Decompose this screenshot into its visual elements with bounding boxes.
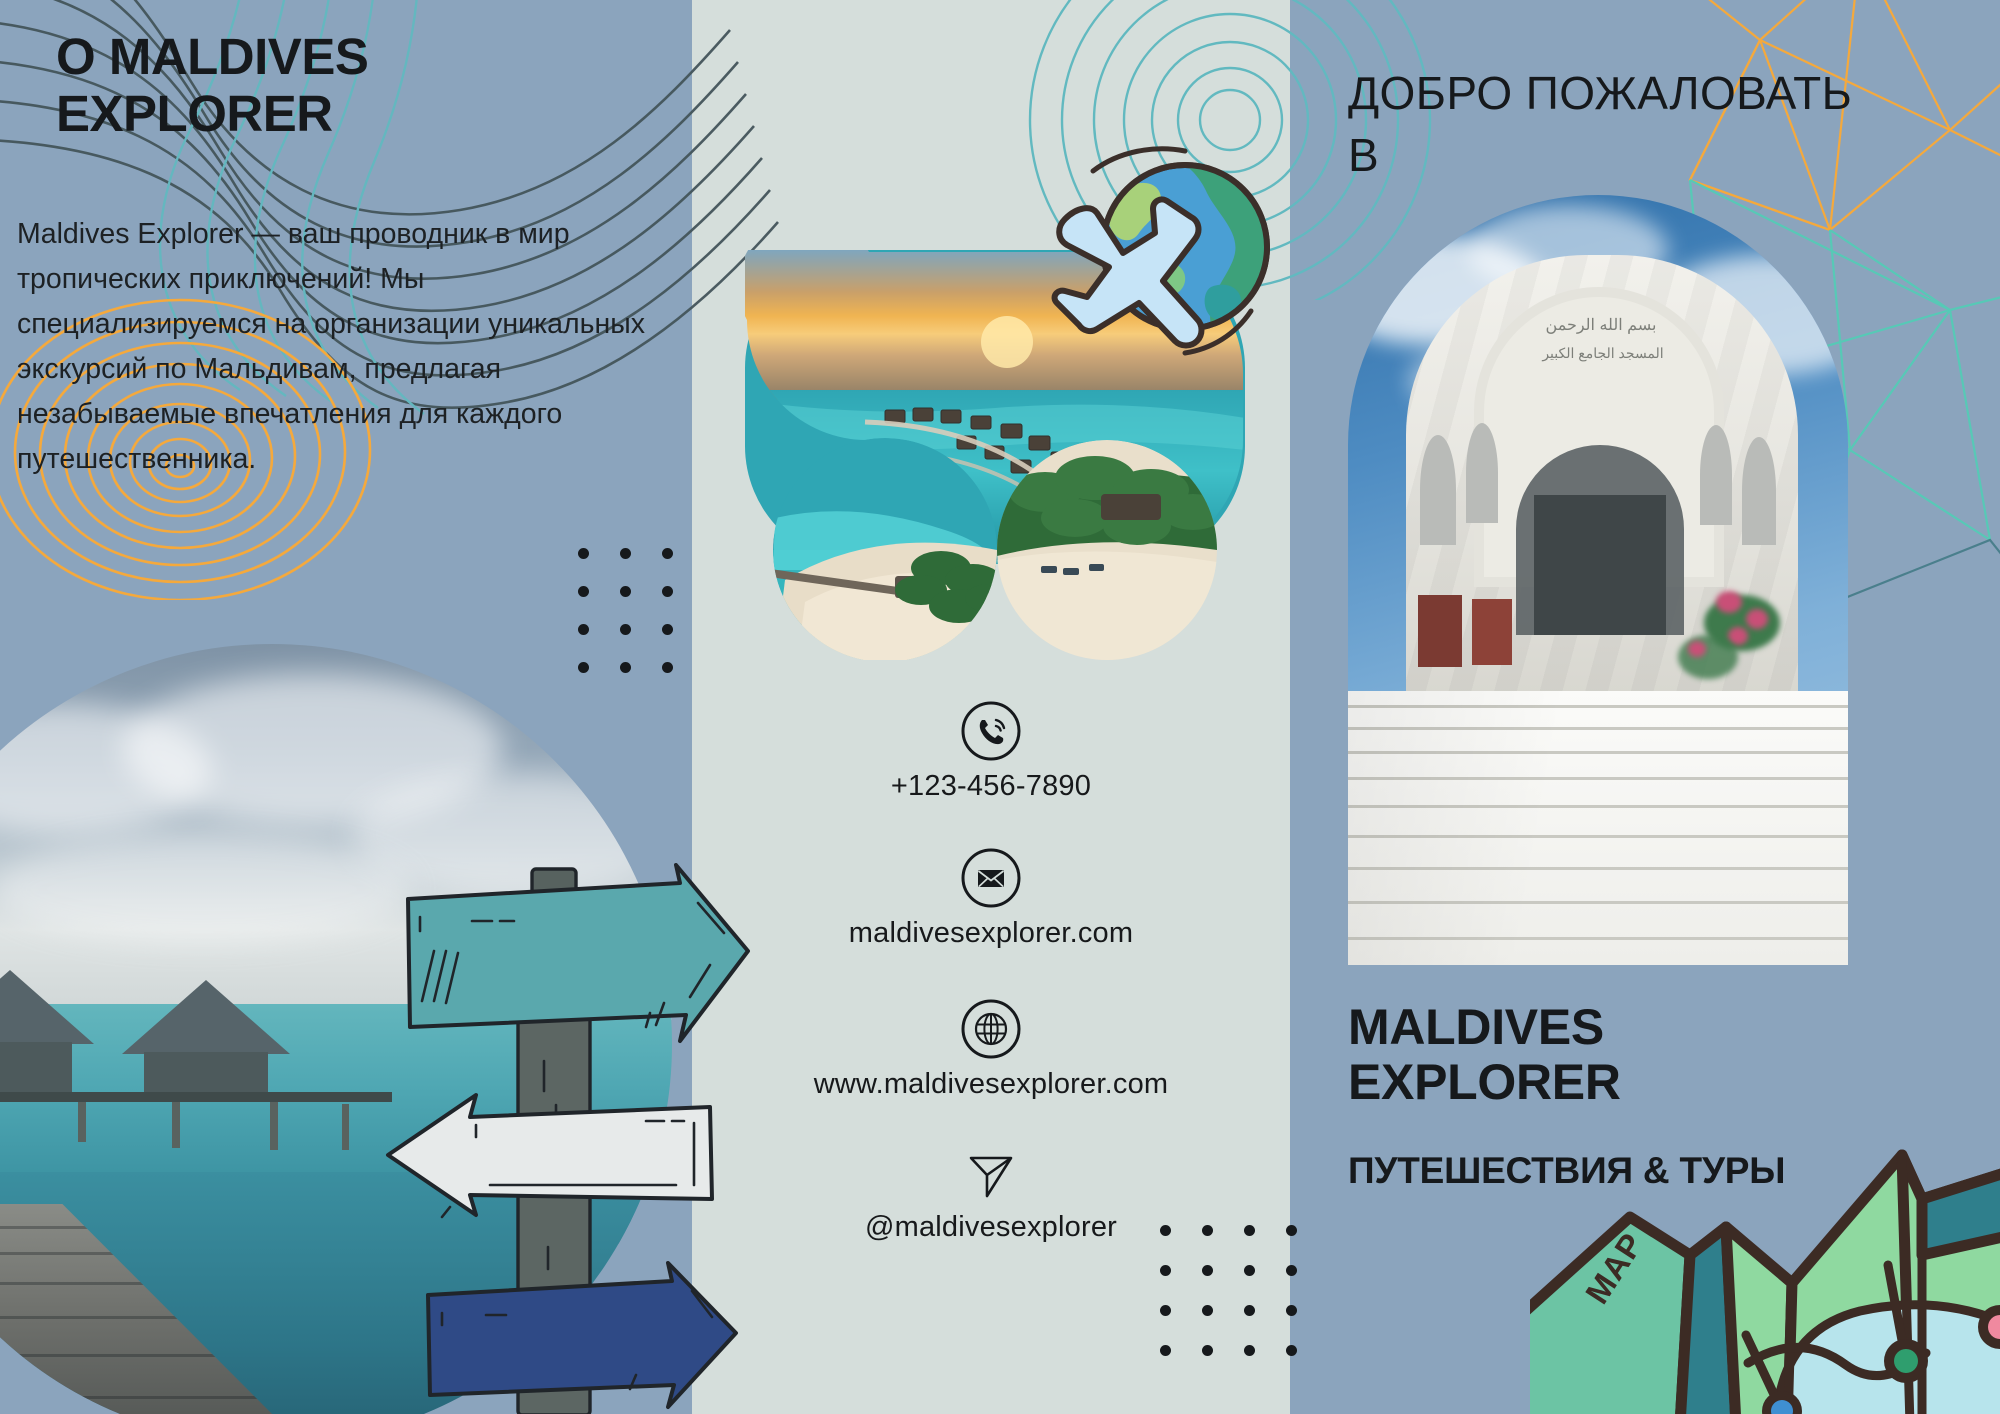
welcome-heading: ДОБРО ПОЖАЛОВАТЬ В — [1348, 62, 1868, 186]
mosque-photo: بسم الله الرحمن المسجد الجامع الكبير — [1348, 195, 1848, 965]
phone-value: +123-456-7890 — [692, 772, 1290, 801]
mail-icon — [960, 847, 1022, 909]
about-heading: О MALDIVES EXPLORER — [56, 28, 616, 142]
about-paragraph: Maldives Explorer — ваш проводник в мир … — [17, 212, 657, 482]
globe-icon — [960, 998, 1022, 1060]
contact-phone[interactable]: +123-456-7890 — [692, 700, 1290, 801]
globe-airplane-icon — [1035, 135, 1285, 365]
brand-name: MALDIVES EXPLORER — [1348, 1000, 1868, 1110]
white-arrow-left — [388, 1095, 712, 1215]
send-icon — [960, 1147, 1022, 1203]
dot-grid-decoration-bottom — [1160, 1225, 1290, 1385]
brochure-page: О MALDIVES EXPLORER Maldives Explorer — … — [0, 0, 2000, 1414]
dot-grid-decoration — [578, 548, 688, 668]
phone-icon — [960, 700, 1022, 762]
signpost-illustration — [380, 855, 940, 1414]
navy-arrow-right — [428, 1263, 736, 1407]
